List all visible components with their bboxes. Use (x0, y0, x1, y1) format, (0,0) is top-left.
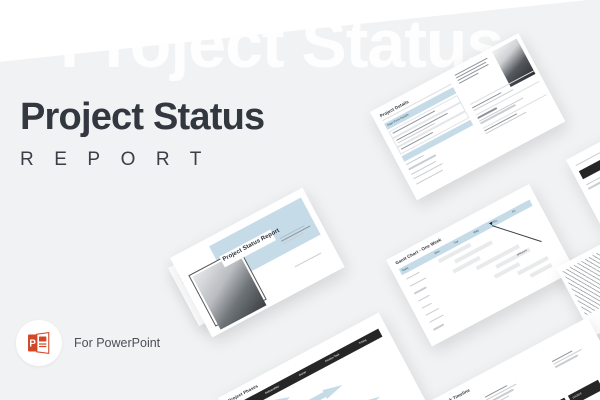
powerpoint-label: For PowerPoint (74, 336, 160, 350)
fan-photo (562, 242, 600, 315)
timeline-heading: Task Timeline (442, 387, 471, 400)
powerpoint-icon-wrap: P (16, 320, 62, 366)
slide-side-right[interactable] (566, 104, 600, 231)
slide-project-details[interactable]: Project Details Start Point Details (370, 33, 565, 200)
slide-project-phases[interactable]: Project Phases Stage Deliverables Owner … (218, 313, 429, 400)
slide-gantt-chart[interactable]: Gantt Chart - One Week Tasks Mon Tue Wed… (386, 184, 575, 347)
powerpoint-icon: P (26, 330, 52, 356)
headline-block: Project Status REPORT (20, 98, 264, 171)
page-title: Project Status (20, 98, 264, 138)
promo-banner: Project Status Project Status Report (0, 0, 600, 400)
page-subtitle: REPORT (20, 149, 264, 171)
svg-text:P: P (29, 338, 36, 349)
slide-visual-summary[interactable] (556, 212, 600, 337)
powerpoint-badge[interactable]: P For PowerPoint (16, 320, 160, 366)
